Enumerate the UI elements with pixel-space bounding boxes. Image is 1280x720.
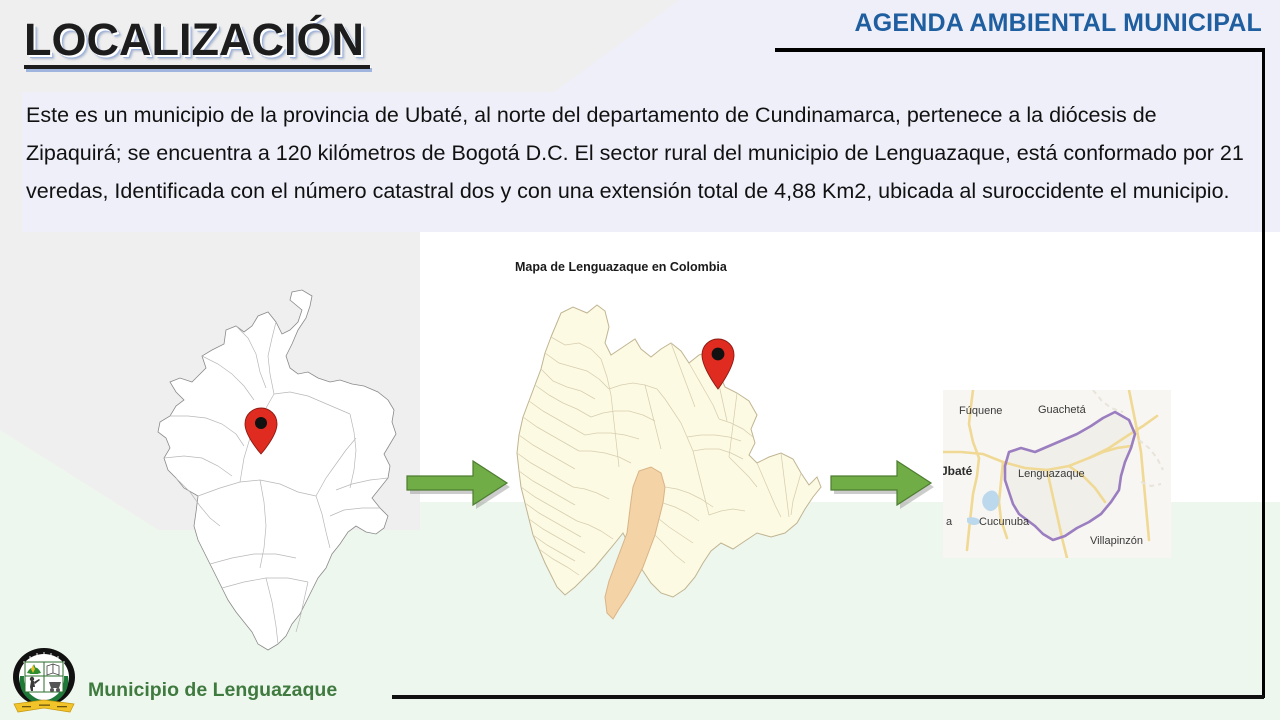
agenda-header-title: AGENDA AMBIENTAL MUNICIPAL: [855, 9, 1263, 38]
footer-municipality-label: Municipio de Lenguazaque: [88, 679, 337, 702]
inset-label: Cucunuba: [979, 516, 1029, 528]
arrow-cundinamarca-to-inset: [828, 455, 938, 513]
page-title: LOCALIZACIÓN: [24, 16, 370, 63]
footer-divider-rule: [392, 695, 1264, 699]
arrow-colombia-to-cundinamarca: [404, 455, 514, 513]
inset-label: Fúquene: [959, 405, 1002, 417]
map-inset-lenguazaque: Fúquene Guachetá Jbaté Lenguazaque a Cuc…: [943, 390, 1171, 558]
inset-label-group: Fúquene Guachetá Jbaté Lenguazaque a Cuc…: [943, 390, 1171, 558]
body-paragraph: Este es un municipio de la provincia de …: [26, 96, 1248, 210]
right-border-rule: [1262, 48, 1265, 698]
map-cundinamarca: [505, 297, 825, 635]
header-divider-rule: [775, 48, 1265, 52]
title-underline: [24, 65, 370, 69]
map-colombia: [140, 282, 410, 660]
inset-label: Jbaté: [943, 464, 972, 478]
figure-caption: Mapa de Lenguazaque en Colombia: [515, 260, 727, 274]
inset-label: Guachetá: [1038, 404, 1086, 416]
municipal-crest: [8, 646, 80, 716]
inset-label: Lenguazaque: [1018, 468, 1085, 480]
slide-title-block: LOCALIZACIÓN: [24, 16, 370, 69]
inset-label: Villapinzón: [1090, 535, 1143, 547]
inset-label: a: [946, 516, 952, 528]
slide-canvas: AGENDA AMBIENTAL MUNICIPAL LOCALIZACIÓN …: [0, 0, 1280, 720]
